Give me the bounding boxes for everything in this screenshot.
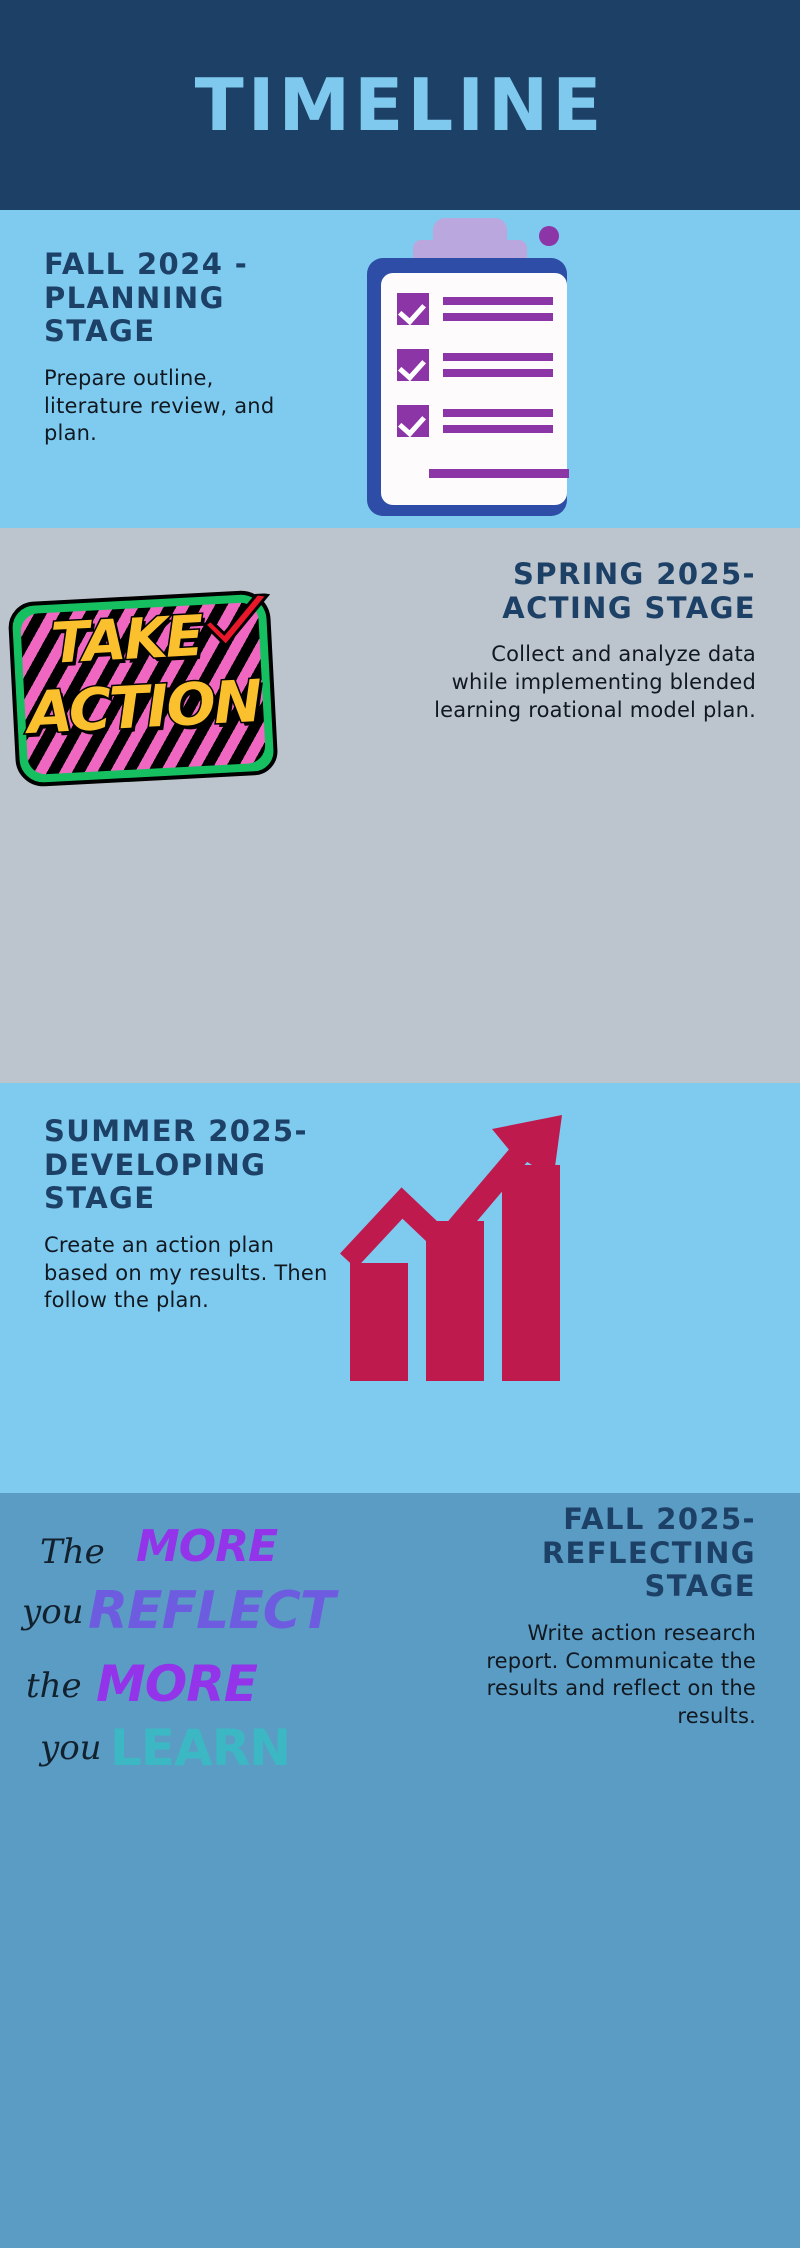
reflect-learn-handwriting: The MORE you REFLECT the MORE you LEARN <box>18 1523 318 1823</box>
section-spring-2025: TAKE ACTION SPRING 2025- ACTING STAGE Co… <box>0 528 800 1083</box>
checklist-line <box>443 353 553 361</box>
growth-bar-chart-arrow-icon <box>340 1093 590 1383</box>
page-header: TIMELINE <box>0 0 800 210</box>
checklist-line <box>443 369 553 377</box>
take-action-sticker: TAKE ACTION <box>8 586 278 796</box>
chart-bar <box>426 1221 484 1381</box>
hw-word-you-2: you <box>40 1731 102 1765</box>
checklist-line <box>443 425 553 433</box>
infographic-page: TIMELINE FALL 2024 - PLANNING STAGE Prep… <box>0 0 800 2000</box>
page-title: TIMELINE <box>195 69 606 141</box>
checkbox-checked-icon <box>397 405 429 437</box>
checklist-line <box>443 297 553 305</box>
checklist-row <box>397 293 553 325</box>
checklist-lines <box>443 297 553 321</box>
hw-word-learn: LEARN <box>110 1723 290 1773</box>
checkbox-checked-icon <box>397 293 429 325</box>
section-spring-2025-heading: SPRING 2025- ACTING STAGE <box>430 558 756 625</box>
checklist-row <box>397 405 553 437</box>
checklist-row <box>397 349 553 381</box>
section-summer-2025-text: SUMMER 2025- DEVELOPING STAGE Create an … <box>22 1115 352 1315</box>
section-fall-2024: FALL 2024 - PLANNING STAGE Prepare outli… <box>0 210 800 528</box>
section-summer-2025-body: Create an action plan based on my result… <box>44 1232 330 1315</box>
checklist-line <box>443 313 553 321</box>
section-fall-2024-heading: FALL 2024 - PLANNING STAGE <box>44 248 300 349</box>
hw-word-the: The <box>40 1535 105 1569</box>
section-summer-2025: SUMMER 2025- DEVELOPING STAGE Create an … <box>0 1083 800 1493</box>
section-fall-2025-heading: FALL 2025- REFLECTING STAGE <box>460 1503 756 1604</box>
clipboard-clip-top <box>433 218 507 254</box>
hw-word-more-2: MORE <box>96 1659 257 1709</box>
chart-bar <box>350 1263 408 1381</box>
section-fall-2024-text: FALL 2024 - PLANNING STAGE Prepare outli… <box>22 248 322 448</box>
sticker-word-action: ACTION <box>8 671 281 743</box>
section-fall-2024-body: Prepare outline, literature review, and … <box>44 365 300 448</box>
clipboard-clip-dot-icon <box>539 226 559 246</box>
clipboard-page <box>381 273 567 505</box>
checklist-line <box>443 409 553 417</box>
hw-word-you-1: you <box>22 1595 84 1629</box>
section-fall-2025-text: FALL 2025- REFLECTING STAGE Write action… <box>438 1503 778 1731</box>
clipboard-checklist-icon <box>355 218 585 518</box>
checklist-footer-line <box>429 469 569 478</box>
hw-word-more-1: MORE <box>136 1525 277 1569</box>
checklist-lines <box>443 409 553 433</box>
checklist-lines <box>443 353 553 377</box>
chart-bar <box>502 1165 560 1381</box>
section-spring-2025-text: SPRING 2025- ACTING STAGE Collect and an… <box>408 558 778 724</box>
section-summer-2025-heading: SUMMER 2025- DEVELOPING STAGE <box>44 1115 330 1216</box>
checkbox-checked-icon <box>397 349 429 381</box>
red-checkmark-icon <box>197 593 274 659</box>
hw-word-the-2: the <box>26 1669 82 1703</box>
section-fall-2025-body: Write action research report. Communicat… <box>460 1620 756 1731</box>
section-fall-2025: The MORE you REFLECT the MORE you LEARN … <box>0 1493 800 2248</box>
section-spring-2025-body: Collect and analyze data while implement… <box>430 641 756 724</box>
hw-word-reflect: REFLECT <box>88 1585 334 1637</box>
